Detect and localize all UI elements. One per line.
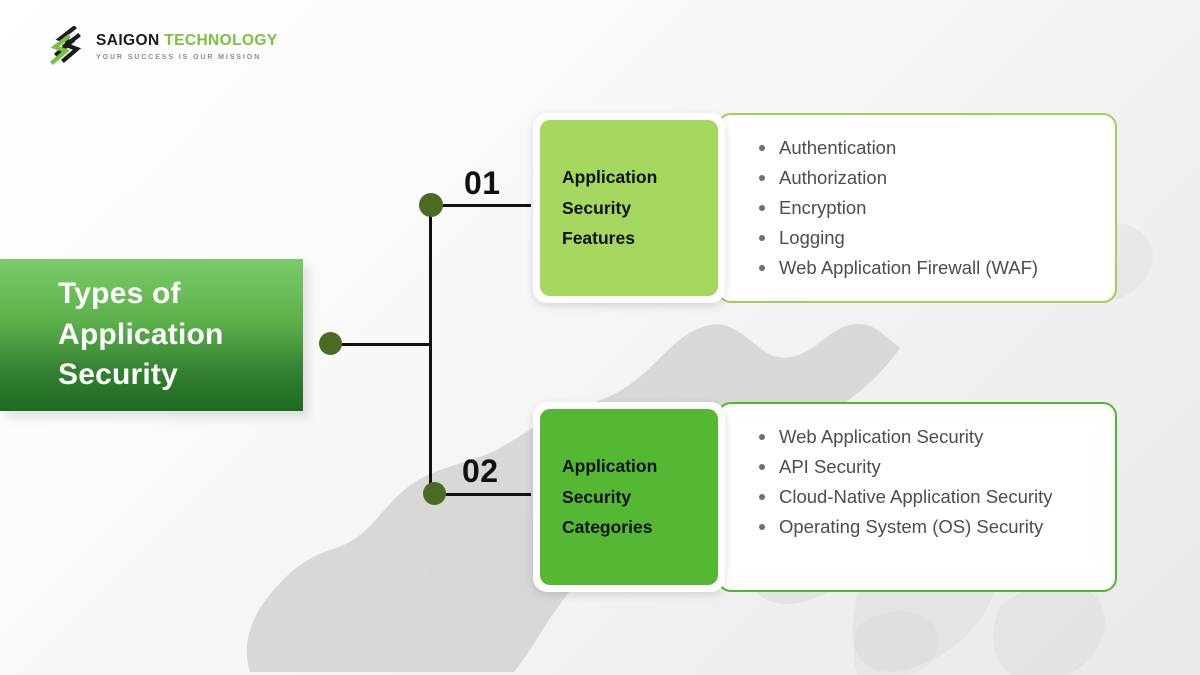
list-item: Authentication	[755, 133, 1107, 163]
bullet-card-2: Web Application Security API Security Cl…	[717, 402, 1117, 592]
content-row-2: Web Application Security API Security Cl…	[533, 402, 1117, 592]
step-number-1: 01	[464, 165, 501, 202]
bullet-card-1: Authentication Authorization Encryption …	[717, 113, 1117, 303]
list-item: Logging	[755, 223, 1107, 253]
list-item: Authorization	[755, 163, 1107, 193]
list-item: Operating System (OS) Security	[755, 512, 1107, 542]
list-item: Web Application Security	[755, 422, 1107, 452]
step-number-2: 02	[462, 453, 499, 490]
list-item: Web Application Firewall (WAF)	[755, 253, 1107, 283]
category-tab-1: Application Security Features	[533, 113, 725, 303]
bullet-list-2: Web Application Security API Security Cl…	[755, 422, 1107, 542]
category-tab-2-fill: Application Security Categories	[540, 409, 718, 585]
connector-dot-1	[419, 193, 443, 217]
list-item: API Security	[755, 452, 1107, 482]
slide-canvas: SAIGON TECHNOLOGY YOUR SUCCESS IS OUR MI…	[0, 0, 1200, 675]
connector-branch-line-2	[434, 493, 531, 497]
list-item: Encryption	[755, 193, 1107, 223]
connector-trunk-line	[331, 343, 431, 347]
category-tab-2-label: Application Security Categories	[540, 451, 657, 543]
category-tab-1-fill: Application Security Features	[540, 120, 718, 296]
category-tab-2: Application Security Categories	[533, 402, 725, 592]
connector-dot-trunk	[319, 332, 342, 355]
category-tab-1-label: Application Security Features	[540, 162, 657, 254]
connector-dot-2	[423, 482, 446, 505]
connector-vertical-line	[429, 205, 433, 495]
bullet-list-1: Authentication Authorization Encryption …	[755, 133, 1107, 283]
connector-branch-line-1	[431, 204, 531, 208]
content-row-1: Authentication Authorization Encryption …	[533, 113, 1117, 303]
list-item: Cloud-Native Application Security	[755, 482, 1107, 512]
